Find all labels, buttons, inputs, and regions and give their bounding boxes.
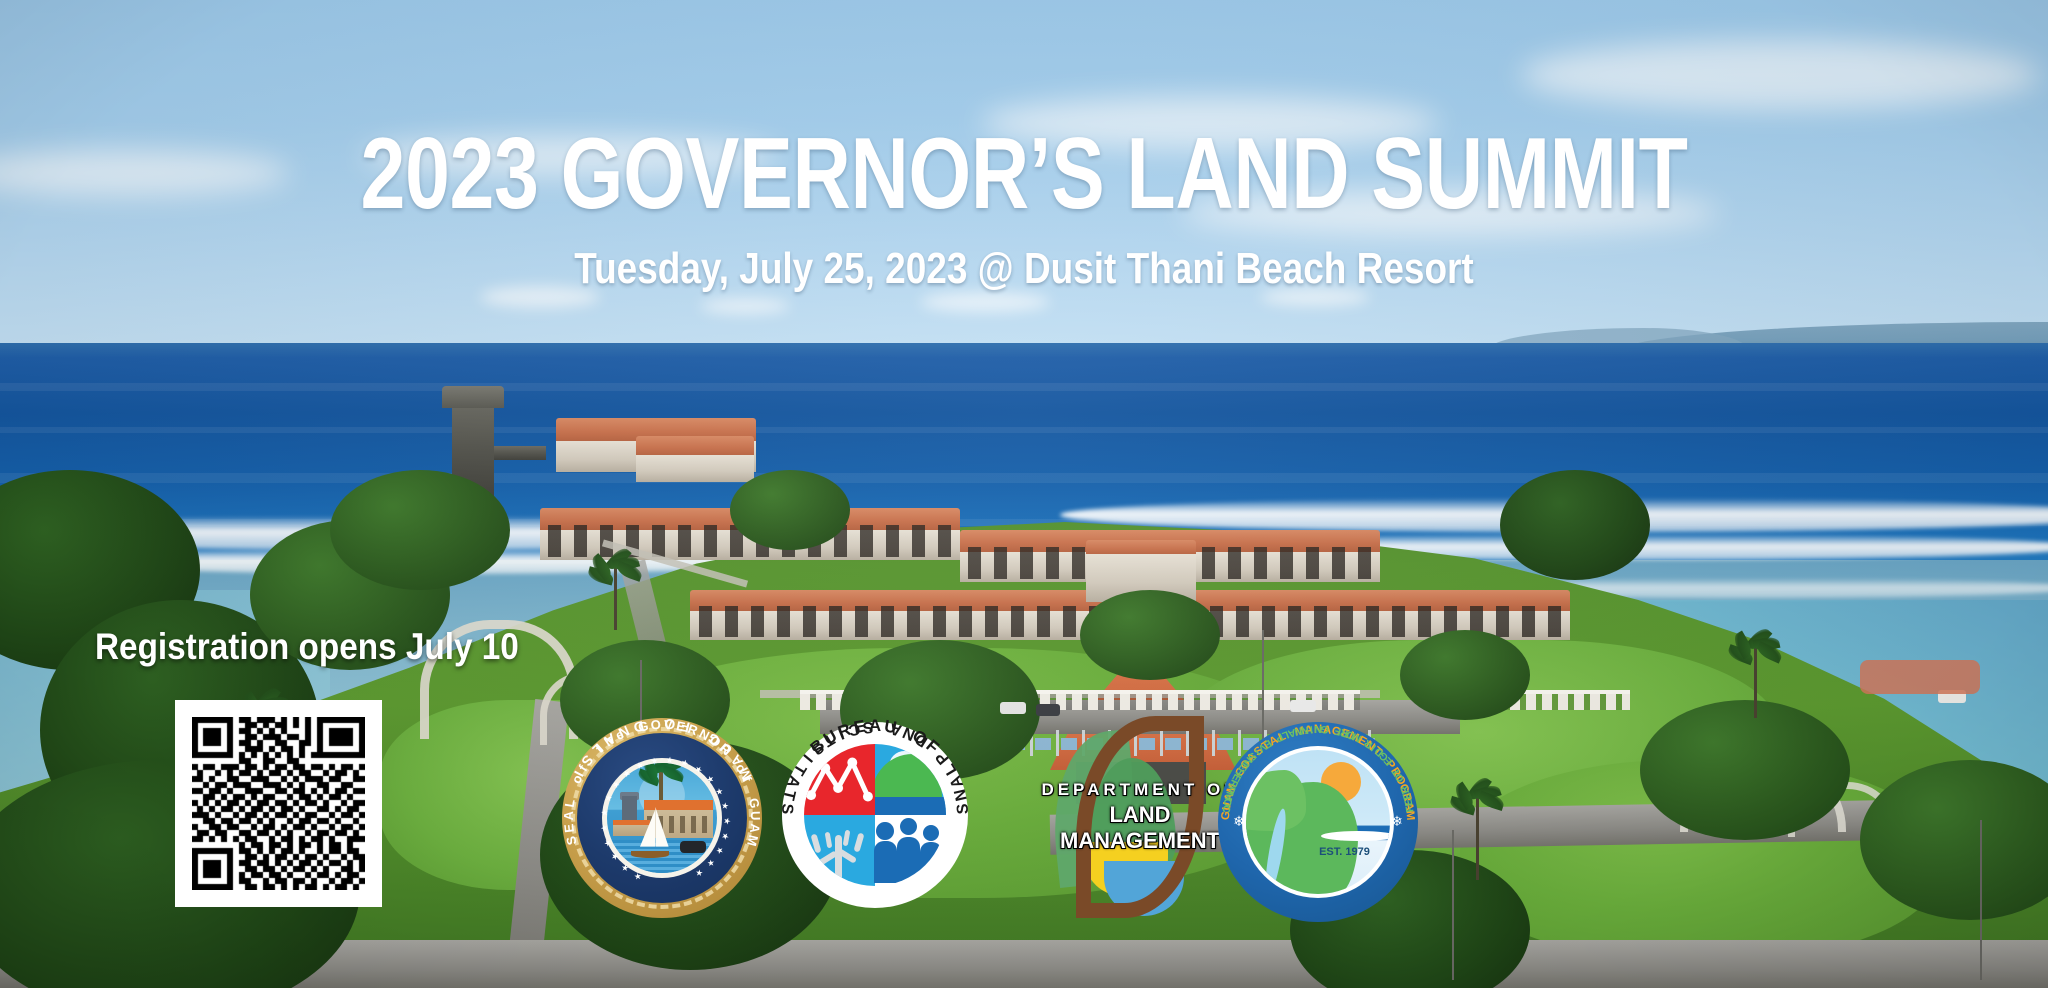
cloud <box>920 292 1050 312</box>
seal-arc-bottom-text: ISLAND OF GUAM <box>562 718 762 918</box>
palm-tree <box>1740 640 1770 718</box>
light-pole <box>1980 820 1982 980</box>
bsp-arc-bottom-text: STATISTICS AND PLANS <box>782 722 968 908</box>
department-of-land-management-logo: DEPARTMENT OF LAND MANAGEMENT <box>1040 712 1240 922</box>
page-title: 2023 GOVERNOR’S LAND SUMMIT <box>205 124 1843 225</box>
vegetation <box>1500 470 1650 580</box>
cloud <box>1520 40 2040 110</box>
page-subtitle: Tuesday, July 25, 2023 @ Dusit Thani Bea… <box>164 247 1884 291</box>
cloud <box>700 298 790 314</box>
bureau-of-statistics-and-plans-logo: BUREAU OF STATISTICS AND PLANS <box>782 722 968 908</box>
complex-building <box>636 436 754 482</box>
vegetation <box>1400 630 1530 720</box>
dlm-line-1: DEPARTMENT OF <box>1032 780 1248 800</box>
registration-qr-code[interactable] <box>175 700 382 907</box>
vegetation <box>1640 700 1850 840</box>
registration-note: Registration opens July 10 <box>95 626 519 668</box>
dlm-wordmark: DEPARTMENT OF LAND MANAGEMENT <box>1032 780 1248 854</box>
vegetation <box>1080 590 1220 680</box>
vegetation <box>730 470 850 550</box>
poster-canvas: 2023 GOVERNOR’S LAND SUMMIT Tuesday, Jul… <box>0 0 2048 988</box>
stone-tower-cap <box>442 386 504 408</box>
arcade-building <box>690 590 1120 640</box>
dlm-line-2: LAND MANAGEMENT <box>1032 802 1248 854</box>
resort-deck <box>1860 660 1980 694</box>
seal-of-the-governor-of-guam-logo: SEAL of the GOVERNOR of GUAM ISLAND OF G… <box>562 718 762 918</box>
qr-canvas[interactable] <box>192 717 365 890</box>
tower-walkway <box>494 446 546 460</box>
title-block: 2023 GOVERNOR’S LAND SUMMIT Tuesday, Jul… <box>0 124 2048 291</box>
light-pole <box>1452 830 1454 980</box>
car <box>1290 700 1316 712</box>
palm-tree <box>1460 790 1494 880</box>
palm-tree <box>600 560 630 630</box>
gcmp-arc-bottom-text: COMPREHENSIVE PLANNING FROM RIDGE TO REE… <box>1218 722 1418 922</box>
car <box>1000 702 1026 714</box>
guam-coastal-management-program-logo: EST. 1979 ❄ ❄ GUAM COASTAL MANAGEMENT PR… <box>1218 722 1418 922</box>
vegetation <box>330 470 510 590</box>
